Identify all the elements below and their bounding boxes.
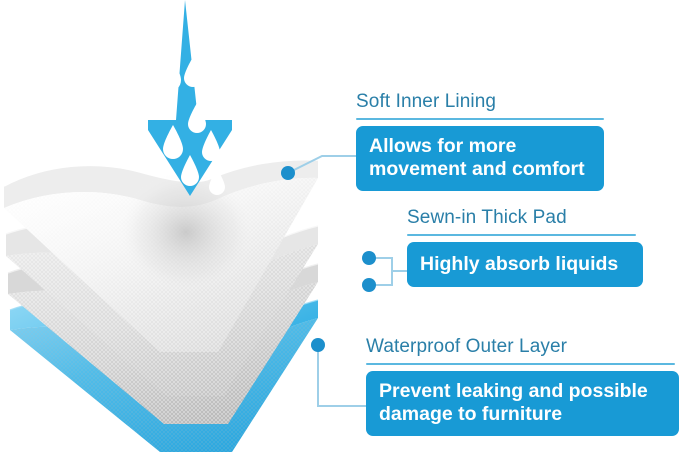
connector-dot-pad-lower bbox=[362, 278, 376, 292]
callout-heading-waterproof-outer-layer: Waterproof Outer Layer bbox=[366, 337, 679, 358]
callout-box-line: Prevent leaking and possible bbox=[379, 380, 666, 403]
product-feature-infographic: Soft Inner Lining Allows for more moveme… bbox=[0, 0, 679, 456]
callout-box-sewn-in-thick-pad: Highly absorb liquids bbox=[407, 242, 643, 287]
callout-underline-sewn-in-thick-pad bbox=[407, 234, 636, 236]
callout-heading-soft-inner-lining: Soft Inner Lining bbox=[356, 92, 608, 113]
callout-heading-sewn-in-thick-pad: Sewn-in Thick Pad bbox=[407, 208, 643, 229]
callout-waterproof-outer-layer: Waterproof Outer Layer Prevent leaking a… bbox=[366, 337, 679, 436]
callout-box-soft-inner-lining: Allows for more movement and comfort bbox=[356, 126, 604, 191]
callout-sewn-in-thick-pad: Sewn-in Thick Pad Highly absorb liquids bbox=[407, 208, 643, 287]
callout-box-line: movement and comfort bbox=[369, 158, 591, 181]
callout-underline-waterproof-outer-layer bbox=[366, 363, 675, 365]
connector-dot-pad-upper bbox=[362, 251, 376, 265]
callout-box-line: Allows for more bbox=[369, 135, 591, 158]
callout-soft-inner-lining: Soft Inner Lining Allows for more moveme… bbox=[356, 92, 608, 191]
water-absorption-arrow bbox=[143, 0, 232, 196]
callout-underline-soft-inner-lining bbox=[356, 118, 604, 120]
callout-box-waterproof-outer-layer: Prevent leaking and possible damage to f… bbox=[366, 371, 679, 436]
layered-fabric-illustration bbox=[0, 0, 360, 456]
callout-box-line: Highly absorb liquids bbox=[420, 253, 630, 276]
connector-sewn-in-thick-pad bbox=[362, 251, 407, 292]
callout-box-line: damage to furniture bbox=[379, 403, 666, 426]
